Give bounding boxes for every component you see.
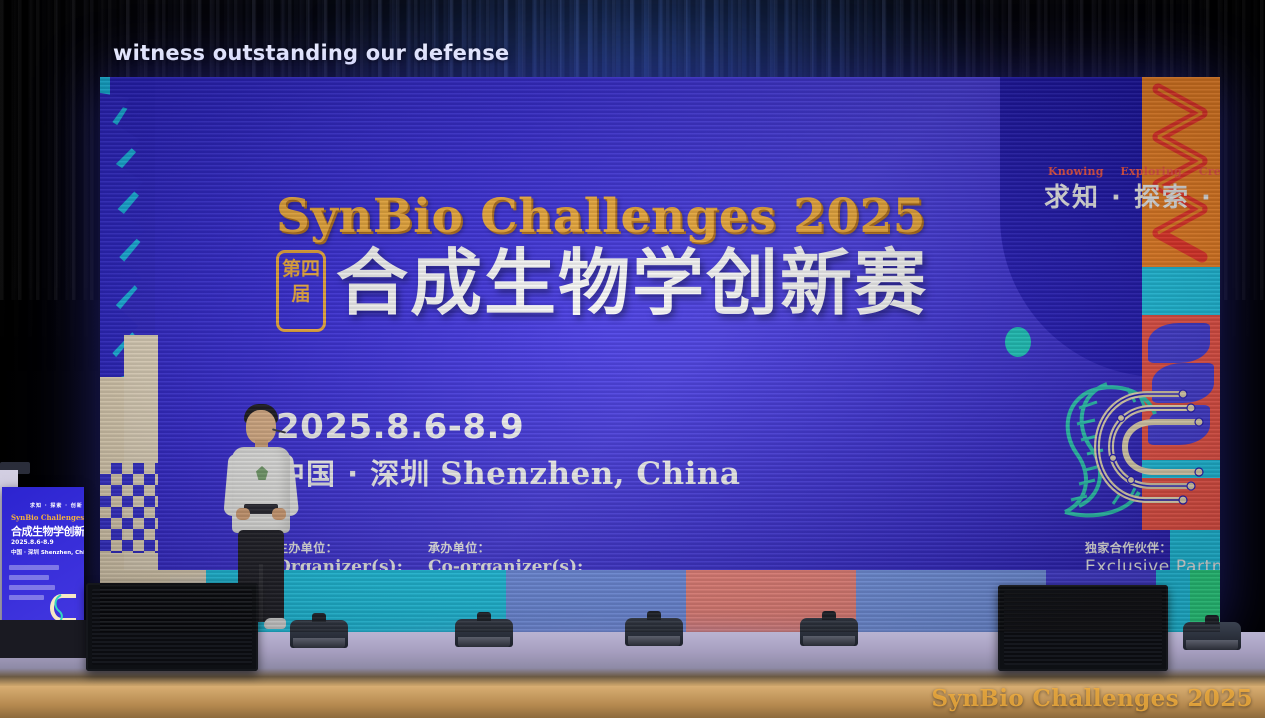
left-checker-pattern [100, 463, 158, 553]
event-location: 中国 · 深圳Shenzhen, China [276, 451, 741, 493]
event-date: 2025.8.6-8.9 [276, 407, 524, 447]
floor-wedge-monitor [625, 618, 683, 646]
poster-slogan: 求知 · 探索 · 创新 [30, 502, 83, 509]
stage-speaker-left [86, 583, 258, 671]
presenter-left-hand [236, 508, 250, 520]
speaker-grill [1004, 591, 1162, 665]
floor-wedge-monitor [800, 618, 858, 646]
poster-date: 2025.8.6-8.9 [11, 539, 54, 546]
presenter-leg-gap [259, 564, 263, 622]
poster-base [0, 620, 86, 658]
synbio-c-logo [1035, 362, 1220, 532]
watermark-text: SynBio Challenges 2025 [932, 685, 1253, 712]
poster-title-cn: 合成生物学创新赛 [11, 523, 84, 539]
poster-title-en: SynBio Challenges 2025 [11, 513, 84, 522]
slogan-chinese: 求知 · 探索 · 创新 [1044, 177, 1220, 214]
event-title-english: SynBio Challenges 2025 [276, 189, 926, 244]
right-cyan-block-1 [1142, 267, 1220, 315]
presenter-right-hand [272, 508, 286, 520]
conference-stage-photo: witness outstanding our defense [0, 0, 1265, 718]
wedge-knob [647, 611, 661, 620]
floor-wedge-monitor [290, 620, 348, 648]
side-poster: 求知 · 探索 · 创新 SynBio Challenges 2025 合成生物… [2, 487, 84, 634]
location-chinese: 中国 · 深圳 [276, 457, 430, 491]
presenter-head [246, 410, 276, 444]
wedge-knob [822, 611, 836, 620]
floor-wedge-monitor [1183, 622, 1241, 650]
exclusive-partner-label-cn: 独家合作伙伴： [1085, 539, 1220, 556]
co-organizer-label-cn: 承办单位： [428, 539, 583, 556]
video-caption-text: witness outstanding our defense [113, 41, 509, 65]
poster-place: 中国 · 深圳 Shenzhen, China [11, 548, 84, 556]
presenter-white-tshirt [232, 447, 290, 533]
stage-speaker-right [998, 585, 1168, 671]
location-english: Shenzhen, China [440, 456, 740, 492]
right-leaf-shape [1148, 323, 1210, 363]
wedge-knob [1205, 615, 1219, 624]
teal-accent-dot [1005, 327, 1031, 357]
speaker-grill [92, 589, 252, 665]
event-title-chinese: 合成生物学创新赛 [336, 243, 928, 323]
presenter-right-shoe [264, 618, 286, 629]
floor-wedge-monitor [455, 619, 513, 647]
wedge-knob [312, 613, 326, 622]
wedge-knob [477, 612, 491, 621]
edition-badge: 第四届 [276, 250, 326, 332]
